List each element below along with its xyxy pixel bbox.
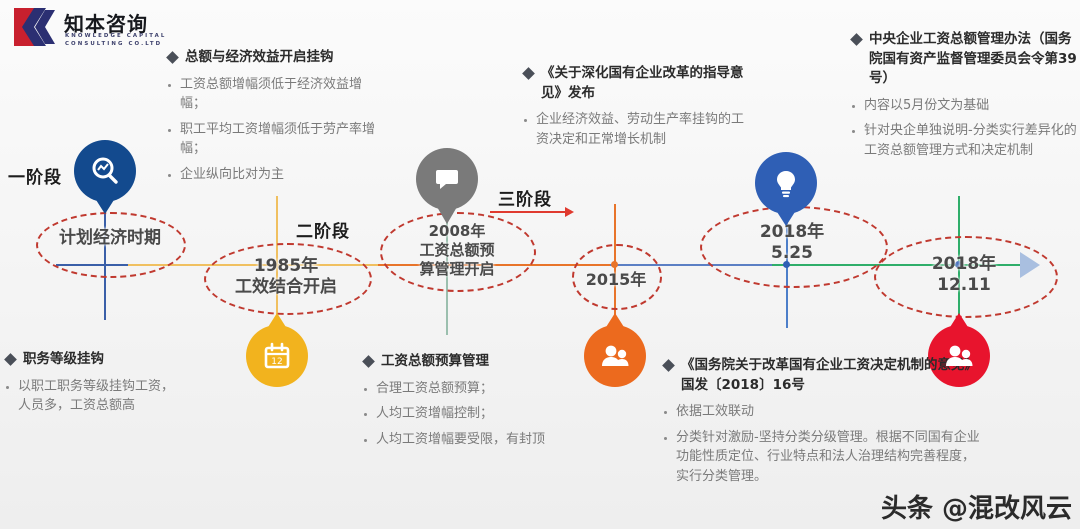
note-bullet: 工资总额增幅须低于经济效益增幅； — [180, 75, 386, 114]
note-bullet: 人均工资增幅要受限，有封顶 — [376, 430, 545, 450]
diamond-bullet-icon — [850, 33, 863, 46]
note-title: 中央企业工资总额管理办法（国务院国有资产监督管理委员会令第39号） — [869, 30, 1078, 89]
stage-three-arrow-tip — [565, 207, 574, 217]
milestone-label-m3: 2008年 工资总额预 算管理开启 — [386, 222, 528, 278]
stage-three-arrow-line — [490, 211, 566, 213]
brand-logo: 知本咨询 KNOWLEDGE CAPITAL CONSULTING CO.LTD — [14, 6, 164, 52]
milestone-label-m6: 2018年 12.11 — [876, 254, 1052, 297]
users-icon — [943, 341, 975, 371]
note-title: 《关于深化国有企业改革的指导意见》发布 — [541, 64, 750, 103]
bullet-dot-icon — [364, 413, 367, 416]
magnifier-chart-icon — [89, 155, 121, 187]
diamond-bullet-icon — [166, 51, 179, 64]
bullet-dot-icon — [364, 388, 367, 391]
note-bullet: 内容以5月份文为基础 — [864, 96, 989, 116]
note-block-1: 职务等级挂钩 以职工职务等级挂钩工资，人员多，工资总额高 — [6, 350, 186, 422]
note-bullet: 企业纵向比对为主 — [180, 165, 284, 185]
note-block-6: 《国务院关于改革国有企业工资决定机制的意见》国发〔2018〕16号 依据工效联动… — [664, 356, 984, 492]
pin-m2: 12 — [246, 325, 308, 387]
pin-m1 — [74, 140, 136, 202]
pin-m4 — [584, 325, 646, 387]
bullet-dot-icon — [664, 437, 667, 440]
note-bullet: 人均工资增幅控制； — [376, 404, 493, 424]
stage-tag-one: 一阶段 — [8, 163, 62, 188]
note-block-4: 《关于深化国有企业改革的指导意见》发布 企业经济效益、劳动生产率挂钩的工资决定和… — [524, 64, 750, 155]
milestone-label-m4: 2015年 — [572, 270, 660, 290]
note-bullet: 针对央企单独说明-分类实行差异化的工资总额管理方式和决定机制 — [864, 121, 1078, 160]
diamond-bullet-icon — [4, 353, 17, 366]
note-bullet: 以职工职务等级挂钩工资，人员多，工资总额高 — [18, 377, 186, 416]
brand-name-en: KNOWLEDGE CAPITAL CONSULTING CO.LTD — [65, 32, 166, 48]
bullet-dot-icon — [852, 130, 855, 133]
milestone-label-m1: 计划经济时期 — [40, 228, 180, 249]
bullet-dot-icon — [664, 411, 667, 414]
pin-m3 — [416, 148, 478, 210]
bullet-dot-icon — [168, 129, 171, 132]
note-title: 职务等级挂钩 — [23, 350, 104, 370]
bullet-dot-icon — [852, 105, 855, 108]
milestone-label-m5: 2018年 5.25 — [702, 222, 882, 265]
stage-tag-two: 二阶段 — [296, 217, 350, 242]
bullet-dot-icon — [524, 119, 527, 122]
watermark: 头条 @混改风云 — [881, 488, 1072, 525]
note-bullet: 分类针对激励-坚持分类分级管理。根据不同国有企业功能性质定位、行业特点和法人治理… — [676, 428, 984, 487]
note-bullet: 企业经济效益、劳动生产率挂钩的工资决定和正常增长机制 — [536, 110, 750, 149]
note-bullet: 合理工资总额预算； — [376, 379, 493, 399]
logo-mark-icon — [14, 8, 58, 46]
milestone-label-m2: 1985年 工效结合开启 — [206, 256, 366, 299]
infographic-canvas: 知本咨询 KNOWLEDGE CAPITAL CONSULTING CO.LTD… — [0, 0, 1080, 529]
stage-tag-three: 三阶段 — [498, 185, 552, 210]
bullet-dot-icon — [168, 174, 171, 177]
note-bullet: 职工平均工资增幅须低于劳产率增幅； — [180, 120, 386, 159]
lightbulb-icon — [772, 168, 800, 198]
svg-text:12: 12 — [271, 357, 282, 367]
note-block-3: 工资总额预算管理 合理工资总额预算； 人均工资增幅控制； 人均工资增幅要受限，有… — [364, 352, 586, 455]
calendar-icon: 12 — [262, 341, 292, 371]
note-title: 工资总额预算管理 — [381, 352, 489, 372]
diamond-bullet-icon — [522, 67, 535, 80]
diamond-bullet-icon — [662, 359, 675, 372]
users-icon — [599, 341, 631, 371]
bullet-dot-icon — [364, 439, 367, 442]
pin-m5 — [755, 152, 817, 214]
speech-bubble-icon — [432, 164, 462, 194]
note-block-2: 总额与经济效益开启挂钩 工资总额增幅须低于经济效益增幅； 职工平均工资增幅须低于… — [168, 48, 386, 190]
bullet-dot-icon — [6, 386, 9, 389]
note-bullet: 依据工效联动 — [676, 402, 754, 422]
diamond-bullet-icon — [362, 355, 375, 368]
note-block-5: 中央企业工资总额管理办法（国务院国有资产监督管理委员会令第39号） 内容以5月份… — [852, 30, 1078, 166]
bullet-dot-icon — [168, 84, 171, 87]
note-title: 总额与经济效益开启挂钩 — [185, 48, 334, 68]
note-title: 《国务院关于改革国有企业工资决定机制的意见》国发〔2018〕16号 — [681, 356, 984, 395]
